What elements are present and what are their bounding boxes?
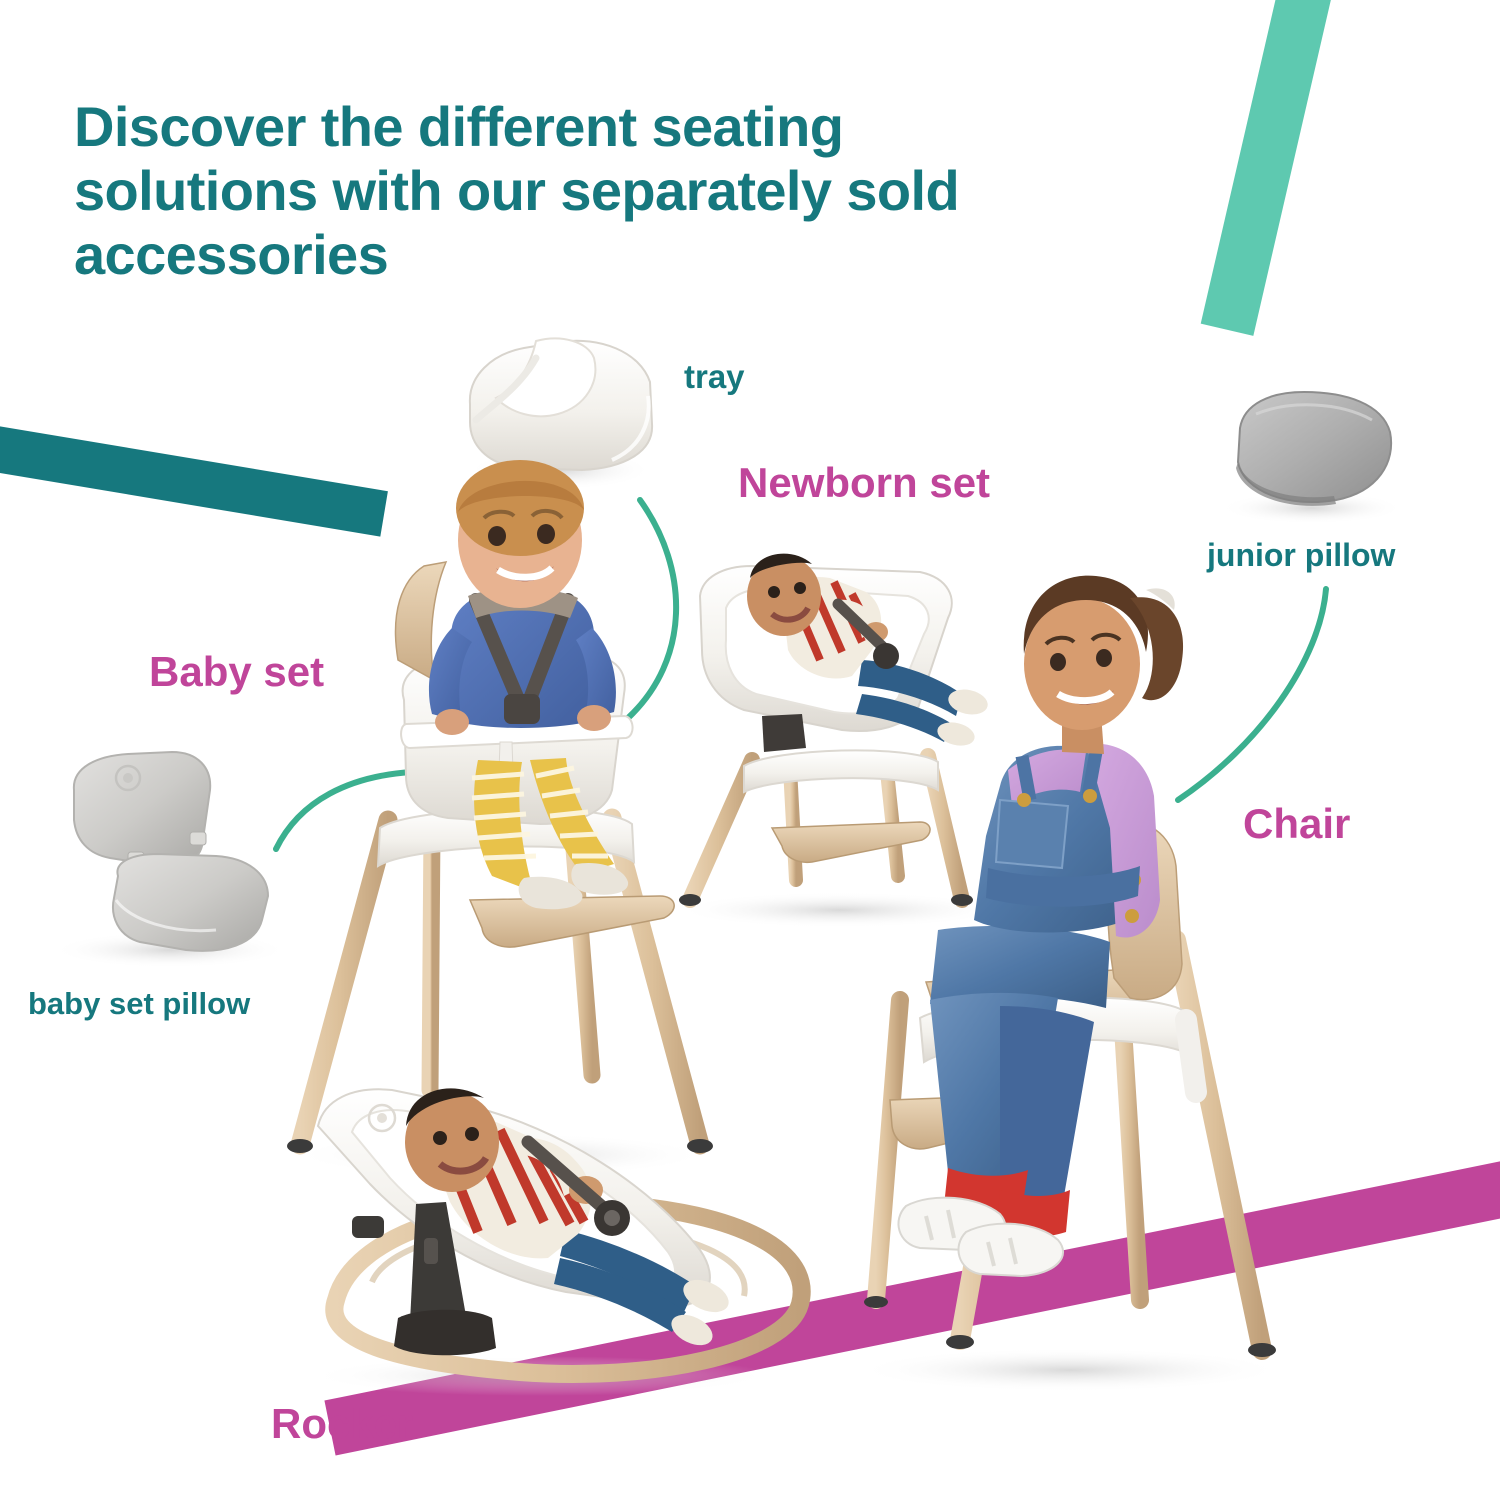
page-headline: Discover the different seating solutions… bbox=[74, 95, 1194, 286]
product-junior-pillow bbox=[1220, 392, 1404, 524]
connector-junior-pillow-to-chair bbox=[1178, 589, 1326, 800]
mint-bar-top-right bbox=[1201, 0, 1344, 336]
product-tray bbox=[468, 338, 652, 490]
magenta-bar-bottom bbox=[324, 1137, 1500, 1455]
toddler-in-baby-set bbox=[429, 460, 628, 909]
product-baby-set bbox=[287, 460, 713, 1177]
headline-line-3: accessories bbox=[74, 223, 1194, 287]
label-baby-set: Baby set bbox=[149, 648, 324, 696]
teal-bar-left bbox=[0, 420, 388, 536]
baby-in-rocker bbox=[405, 1088, 734, 1351]
girl-in-chair bbox=[898, 576, 1183, 1276]
infographic-canvas: Discover the different seating solutions… bbox=[0, 0, 1500, 1500]
label-tray: tray bbox=[684, 358, 745, 396]
label-junior-pillow: junior pillow bbox=[1207, 537, 1395, 574]
connector-lines bbox=[276, 500, 1326, 849]
product-newborn-set bbox=[675, 554, 1005, 928]
label-newborn-set: Newborn set bbox=[738, 459, 990, 507]
product-baby-set-pillow bbox=[52, 752, 288, 968]
headline-line-1: Discover the different seating bbox=[74, 95, 1194, 159]
connector-baby-set-pillow-to-baby-set bbox=[276, 772, 412, 849]
label-rocker: Rocker bbox=[271, 1400, 413, 1448]
connector-tray-to-baby-set bbox=[628, 500, 676, 718]
label-chair: Chair bbox=[1243, 800, 1350, 848]
headline-line-2: solutions with our separately sold bbox=[74, 159, 1194, 223]
newborn-in-newborn-set bbox=[747, 554, 990, 750]
label-baby-set-pillow: baby set pillow bbox=[28, 986, 250, 1022]
